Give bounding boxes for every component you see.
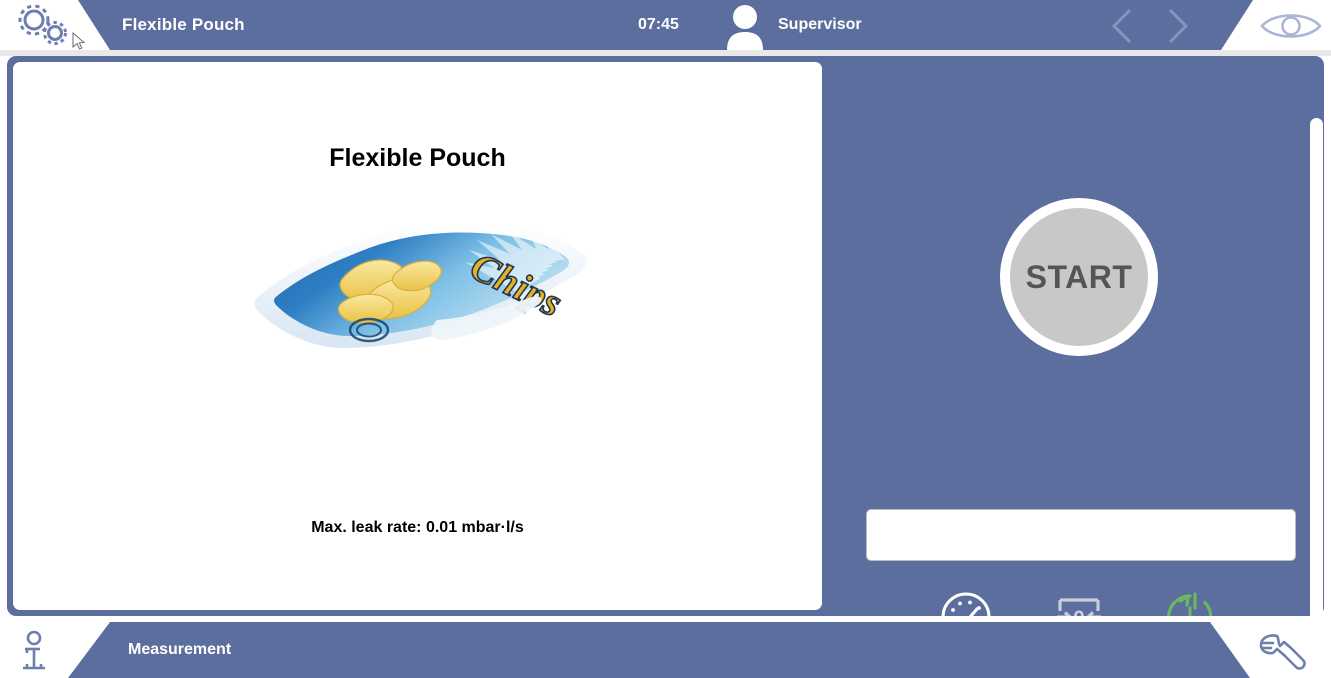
footer-screen-label: Measurement: [128, 622, 231, 678]
top-header-bar: Flexible Pouch 07:45 Supervisor: [0, 0, 1331, 50]
page-title: Flexible Pouch: [122, 0, 245, 50]
flexible-pouch-chips-bag: Chips: [247, 180, 592, 385]
user-icon[interactable]: [723, 4, 767, 50]
chevron-left-icon[interactable]: [1104, 6, 1142, 46]
info-icon[interactable]: [14, 630, 54, 674]
product-info-card: Flexible Pouch: [13, 62, 822, 610]
main-panel: Flexible Pouch: [7, 56, 1324, 616]
gears-icon[interactable]: [12, 2, 74, 48]
measurement-result-field[interactable]: [866, 509, 1296, 561]
max-leak-rate-label: Max. leak rate: 0.01 mbar·l/s: [13, 519, 822, 537]
user-role-label: Supervisor: [778, 0, 862, 50]
bottom-footer-bar: Measurement: [0, 622, 1331, 678]
clock-time: 07:45: [638, 0, 679, 50]
chevron-right-icon[interactable]: [1158, 6, 1196, 46]
start-button[interactable]: START: [1000, 198, 1158, 356]
wrench-icon[interactable]: [1255, 630, 1307, 674]
mouse-cursor: [72, 32, 86, 50]
eye-icon[interactable]: [1258, 8, 1324, 44]
vertical-scrollbar[interactable]: [1310, 118, 1323, 666]
product-title: Flexible Pouch: [13, 144, 822, 173]
